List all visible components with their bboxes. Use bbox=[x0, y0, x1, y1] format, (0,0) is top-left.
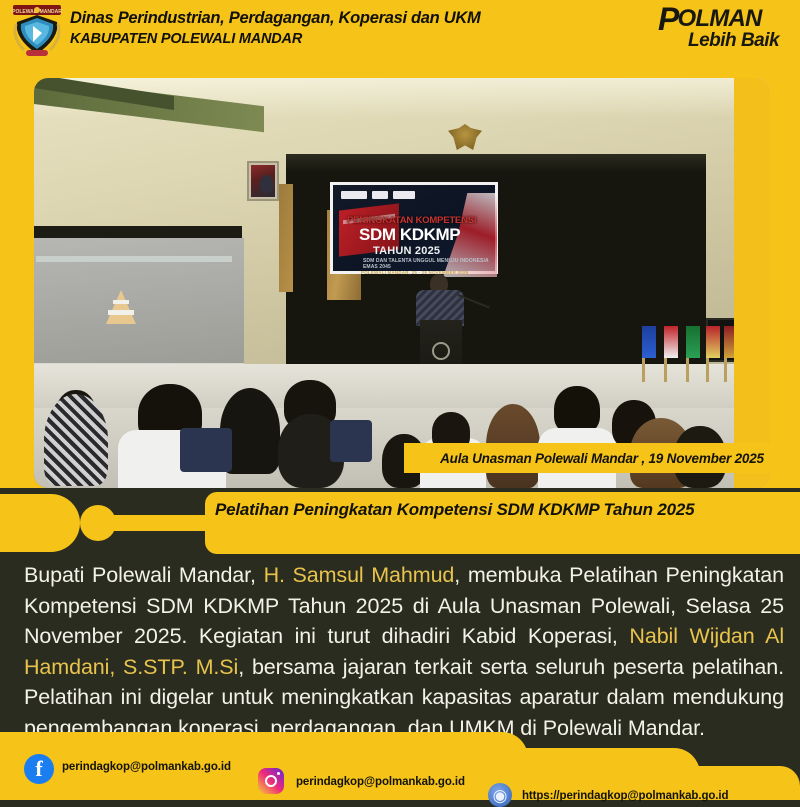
audience-person bbox=[554, 386, 600, 434]
page-footer: f perindagkop@polmankab.go.id perindagko… bbox=[0, 732, 800, 800]
polman-rest-letters: OLMAN bbox=[678, 5, 762, 32]
title-decor-block bbox=[0, 494, 80, 552]
title-decor-strip bbox=[110, 515, 220, 531]
page-header: POLEWALI MANDAR Dinas Perindustrian, Per… bbox=[0, 0, 800, 62]
website-url[interactable]: https://perindagkop@polmankab.go.id bbox=[522, 790, 728, 802]
facebook-icon[interactable]: f bbox=[24, 754, 54, 784]
projector-slide-graphic bbox=[106, 290, 136, 324]
header-regency-name: KABUPATEN POLEWALI MANDAR bbox=[70, 30, 480, 49]
wall-portrait-frame bbox=[247, 161, 279, 201]
training-event-photo: PENINGKATAN KOMPETENSI SDM KDKMP TAHUN 2… bbox=[34, 78, 770, 488]
photo-scene: PENINGKATAN KOMPETENSI SDM KDKMP TAHUN 2… bbox=[34, 78, 770, 488]
banner-line3: TAHUN 2025 bbox=[373, 245, 493, 257]
article-body: Bupati Polewali Mandar, H. Samsul Mahmud… bbox=[24, 560, 784, 732]
banner-line2: SDM KDKMP bbox=[359, 226, 499, 244]
body-text-segment: Bupati Polewali Mandar, bbox=[24, 563, 264, 587]
podium-seal-icon bbox=[432, 342, 450, 360]
globe-icon[interactable]: ◉ bbox=[488, 783, 512, 807]
highlighted-name: H. Samsul Mahmud bbox=[264, 563, 455, 587]
polman-p-letter: P bbox=[658, 6, 679, 32]
instagram-icon[interactable] bbox=[258, 768, 284, 794]
projector-screen bbox=[34, 238, 244, 370]
header-title-group: Dinas Perindustrian, Perdagangan, Kopera… bbox=[70, 8, 480, 49]
chair-back bbox=[330, 420, 372, 462]
instagram-handle[interactable]: perindagkop@polmankab.go.id bbox=[296, 776, 465, 788]
title-band: Pelatihan Peningkatan Kompetensi SDM KDK… bbox=[0, 488, 800, 558]
wood-panel-secondary bbox=[279, 184, 293, 292]
chair-back bbox=[180, 428, 232, 472]
event-banner: PENINGKATAN KOMPETENSI SDM KDKMP TAHUN 2… bbox=[330, 182, 498, 274]
polman-wordmark: POLMAN bbox=[658, 6, 790, 32]
photo-caption-bar: Aula Unasman Polewali Mandar , 19 Novemb… bbox=[404, 443, 800, 473]
photo-caption-text: Aula Unasman Polewali Mandar , 19 Novemb… bbox=[440, 451, 764, 466]
page-title: Pelatihan Peningkatan Kompetensi SDM KDK… bbox=[215, 498, 800, 522]
header-office-name: Dinas Perindustrian, Perdagangan, Kopera… bbox=[70, 8, 480, 28]
facebook-handle[interactable]: perindagkop@polmankab.go.id bbox=[62, 761, 231, 773]
polman-logo: POLMAN Lebih Baik bbox=[658, 4, 790, 56]
banner-line5: POLEWALI MANDAR, 25 - 29 NOVEMBER 2025 bbox=[361, 270, 495, 275]
flag-stand-group bbox=[630, 326, 740, 382]
polman-tagline: Lebih Baik bbox=[688, 30, 779, 52]
polewali-mandar-crest-icon: POLEWALI MANDAR bbox=[8, 2, 66, 60]
photo-right-crop bbox=[734, 78, 770, 488]
audience-person bbox=[44, 394, 108, 486]
banner-line4: SDM DAN TALENTA UNGGUL MENUJU INDONESIA … bbox=[363, 258, 493, 270]
projector-screen-bar bbox=[36, 256, 232, 262]
